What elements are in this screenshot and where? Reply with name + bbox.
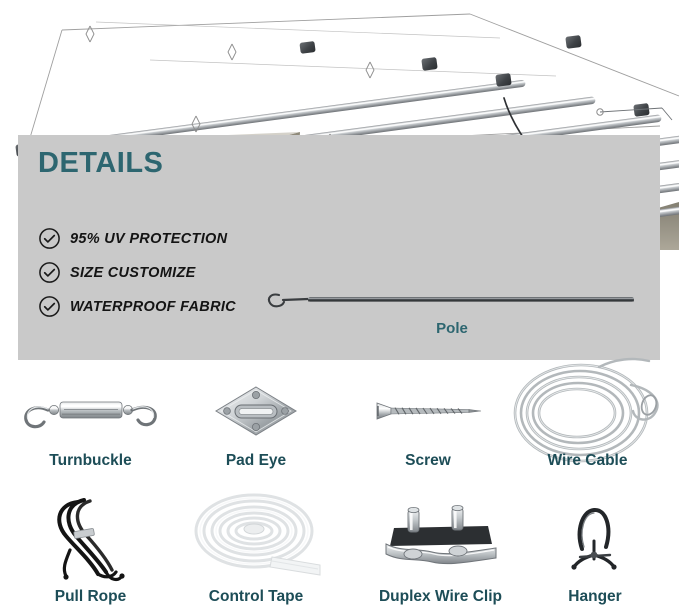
feature-label: WATERPROOF FABRIC: [70, 299, 236, 315]
part-hanger: Hanger: [520, 488, 670, 606]
feature-item-uv-protection: 95% UV PROTECTION: [38, 223, 368, 254]
check-circle-icon: [38, 261, 61, 284]
check-circle-icon: [38, 227, 61, 250]
screw-icon: [348, 380, 508, 442]
part-control-tape: Control Tape: [176, 488, 336, 606]
feature-label: 95% UV PROTECTION: [70, 231, 227, 247]
pole-icon: [262, 303, 642, 320]
duplex-wire-clip-icon: [348, 488, 533, 586]
turnbuckle-icon: [8, 380, 173, 442]
hanger-icon: [520, 488, 670, 586]
part-pull-rope: Pull Rope: [8, 488, 173, 606]
part-label: Control Tape: [176, 588, 336, 606]
part-label: Pad Eye: [176, 452, 336, 470]
parts-grid: Turnbuckle: [0, 368, 679, 611]
wire-cable-icon: [500, 374, 675, 448]
control-tape-icon: [176, 488, 336, 586]
feature-label: SIZE CUSTOMIZE: [70, 265, 196, 281]
part-turnbuckle: Turnbuckle: [8, 380, 173, 490]
part-screw: Screw: [348, 380, 508, 490]
pole-item: Pole: [262, 282, 642, 348]
part-label: Screw: [348, 452, 508, 470]
pull-rope-icon: [8, 488, 173, 586]
part-duplex-wire-clip: Duplex Wire Clip: [348, 488, 533, 606]
part-label: Duplex Wire Clip: [348, 588, 533, 606]
part-label: Turnbuckle: [8, 452, 173, 470]
part-label: Hanger: [520, 588, 670, 606]
check-circle-icon: [38, 295, 61, 318]
part-wire-cable: Wire Cable: [500, 374, 675, 490]
pole-label: Pole: [262, 320, 642, 337]
part-label: Pull Rope: [8, 588, 173, 606]
pad-eye-icon: [176, 380, 336, 442]
part-pad-eye: Pad Eye: [176, 380, 336, 490]
details-heading: DETAILS: [38, 149, 163, 178]
part-label: Wire Cable: [500, 452, 675, 470]
